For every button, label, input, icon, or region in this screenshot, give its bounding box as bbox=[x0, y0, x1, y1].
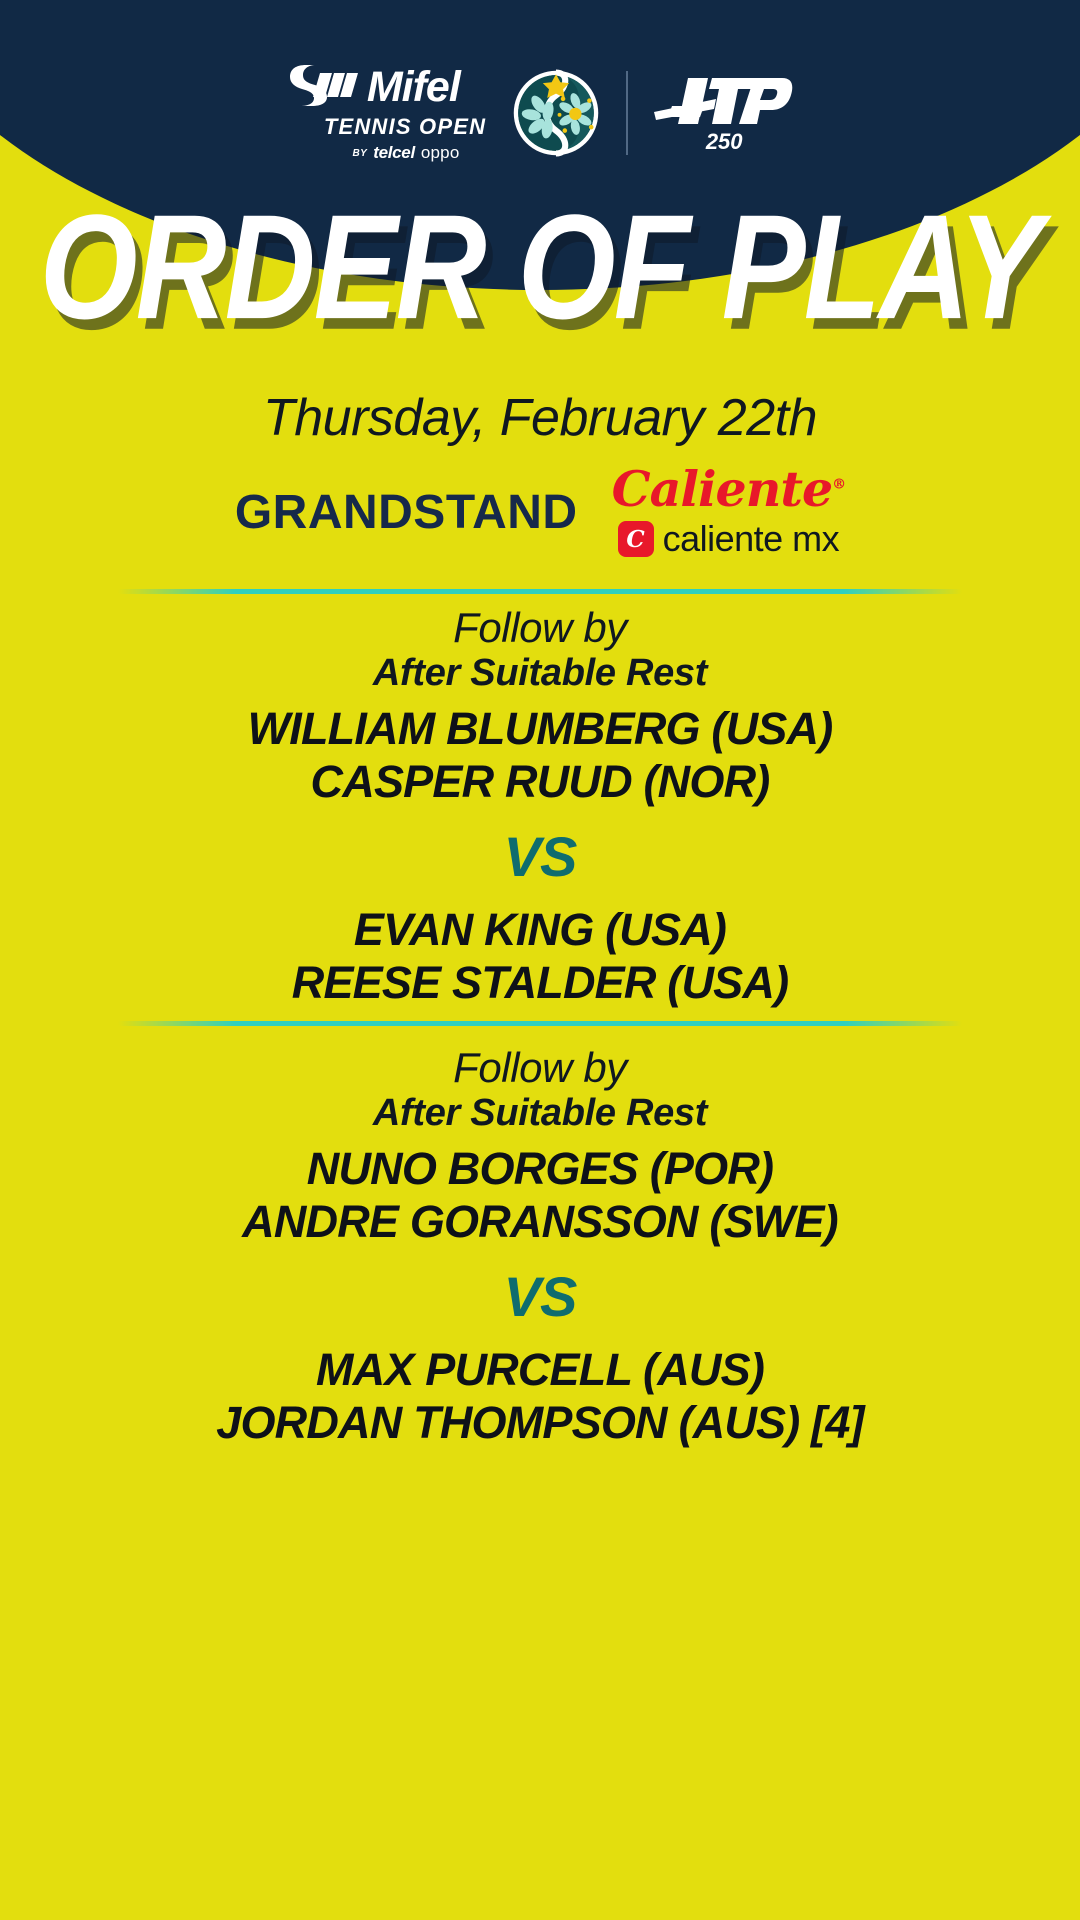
atp-logo-icon bbox=[654, 72, 794, 135]
rest-note-2: After Suitable Rest bbox=[0, 1092, 1080, 1136]
player-name: WILLIAM BLUMBERG (USA) bbox=[0, 702, 1080, 755]
mifel-by-label: BY bbox=[353, 148, 368, 159]
registered-mark: ® bbox=[832, 477, 845, 493]
caliente-script-text: Caliente bbox=[612, 460, 833, 518]
player-name: NUNO BORGES (POR) bbox=[0, 1142, 1080, 1195]
telcel-logo-text: telcel bbox=[373, 143, 415, 163]
rest-note-1: After Suitable Rest bbox=[0, 652, 1080, 696]
mifel-tennis-open-logo: Mifel TENNIS OPEN BY telcel oppo bbox=[286, 63, 486, 163]
caliente-badge-icon: C bbox=[618, 521, 654, 557]
divider-line-top bbox=[118, 589, 962, 594]
match-block-1: Follow by After Suitable Rest WILLIAM BL… bbox=[0, 605, 1080, 1009]
caliente-sponsor-logo: Caliente® C caliente mx bbox=[612, 465, 846, 560]
versus-label-2: VS bbox=[0, 1264, 1080, 1329]
venue-row: GRANDSTAND Caliente® C caliente mx bbox=[0, 465, 1080, 560]
player-name: REESE STALDER (USA) bbox=[0, 956, 1080, 1009]
follow-by-label-2: Follow by bbox=[0, 1045, 1080, 1090]
ornamental-tennis-ball-icon bbox=[512, 69, 600, 157]
match-block-2: Follow by After Suitable Rest NUNO BORGE… bbox=[0, 1045, 1080, 1449]
player-name: CASPER RUUD (NOR) bbox=[0, 755, 1080, 808]
player-name: ANDRE GORANSSON (SWE) bbox=[0, 1195, 1080, 1248]
divider-line-bottom bbox=[118, 1021, 962, 1026]
oppo-logo-text: oppo bbox=[421, 143, 460, 163]
page-title: ORDER OF PLAY bbox=[0, 193, 1080, 342]
vertical-divider bbox=[626, 71, 628, 155]
caliente-mx-label: caliente mx bbox=[663, 518, 840, 560]
follow-by-label-1: Follow by bbox=[0, 605, 1080, 650]
mifel-wordmark: Mifel bbox=[367, 66, 460, 109]
atp-logo: 250 bbox=[654, 72, 794, 155]
atp-tier-label: 250 bbox=[706, 129, 743, 155]
event-date: Thursday, February 22th bbox=[0, 388, 1080, 448]
versus-label-1: VS bbox=[0, 824, 1080, 889]
player-name: EVAN KING (USA) bbox=[0, 903, 1080, 956]
player-name: MAX PURCELL (AUS) bbox=[0, 1343, 1080, 1396]
caliente-script-wordmark: Caliente® bbox=[612, 465, 846, 514]
header-logo-row: Mifel TENNIS OPEN BY telcel oppo bbox=[0, 58, 1080, 168]
mifel-swoosh-icon bbox=[286, 63, 360, 112]
player-name: JORDAN THOMPSON (AUS) [4] bbox=[0, 1396, 1080, 1449]
mifel-subtitle: TENNIS OPEN bbox=[286, 116, 486, 138]
court-name: GRANDSTAND bbox=[235, 485, 578, 540]
